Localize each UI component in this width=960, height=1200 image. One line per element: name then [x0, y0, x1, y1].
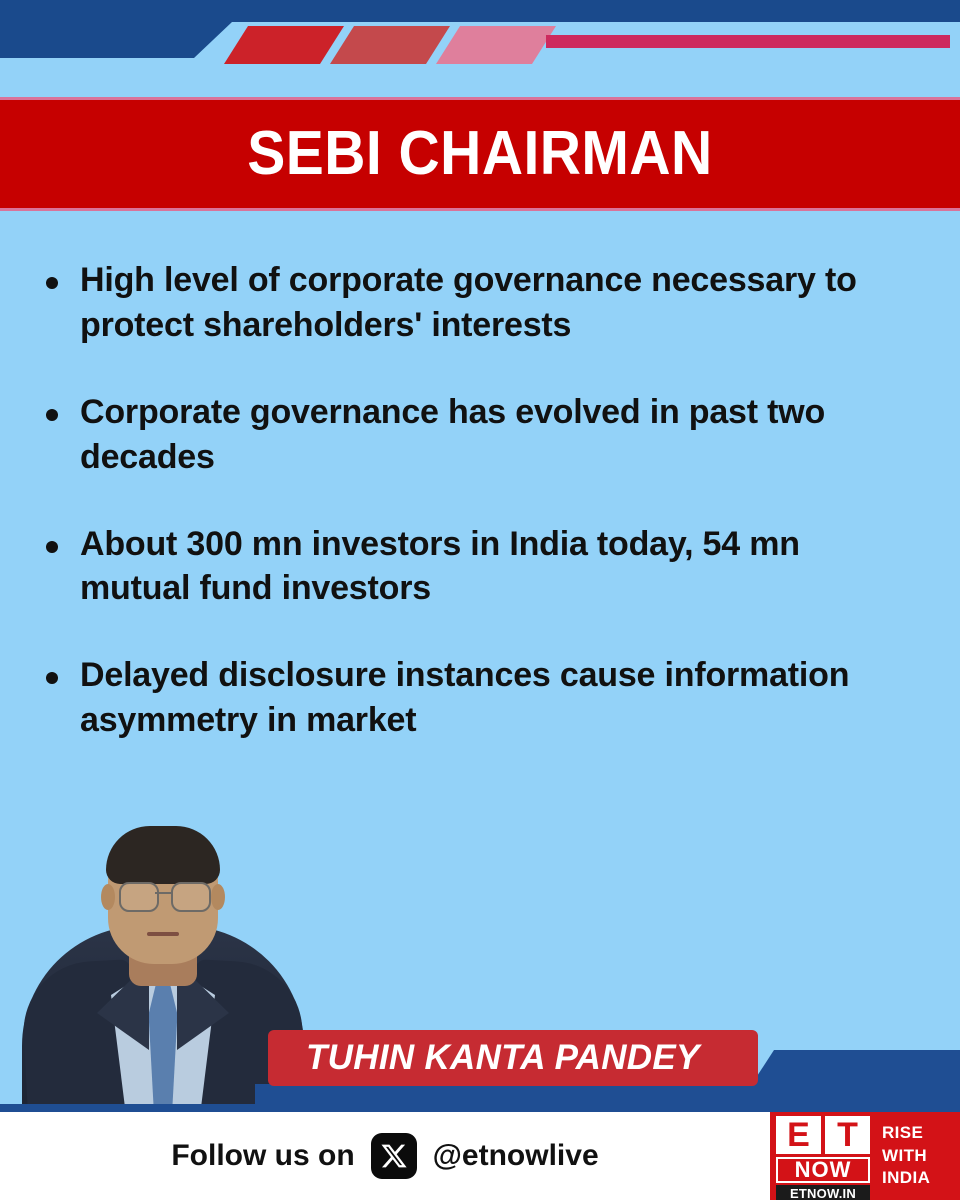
- etnow-letter-e: E: [776, 1116, 821, 1154]
- tagline-line-2: WITH: [882, 1145, 927, 1167]
- footer-bar: Follow us on @etnowlive E T NOW ETNOW.IN: [0, 1112, 960, 1200]
- news-graphic-card: SEBI CHAIRMAN High level of corporate go…: [0, 0, 960, 1200]
- etnow-letter-t: T: [825, 1116, 870, 1154]
- bullet-text: About 300 mn investors in India today, 5…: [80, 522, 914, 612]
- bullet-text: Delayed disclosure instances cause infor…: [80, 653, 914, 743]
- bullet-text: High level of corporate governance neces…: [80, 258, 914, 348]
- eyeglass-bridge: [155, 892, 171, 894]
- list-item: Delayed disclosure instances cause infor…: [46, 653, 914, 743]
- mouth: [147, 932, 179, 936]
- etnow-tagline: RISE WITH INDIA: [874, 1112, 960, 1200]
- bullet-text: Corporate governance has evolved in past…: [80, 390, 914, 480]
- pink-stripe-3: [436, 26, 556, 64]
- ear-right: [211, 884, 225, 910]
- bullet-dot-icon: [46, 672, 58, 684]
- list-item: About 300 mn investors in India today, 5…: [46, 522, 914, 612]
- red-stripe-1: [224, 26, 344, 64]
- follow-label: Follow us on: [171, 1139, 354, 1173]
- list-item: High level of corporate governance neces…: [46, 258, 914, 348]
- ear-left: [101, 884, 115, 910]
- top-decor-banner: [0, 0, 960, 97]
- bullet-dot-icon: [46, 409, 58, 421]
- etnow-now-text: NOW: [795, 1159, 852, 1181]
- etnow-now-box: NOW: [776, 1157, 870, 1183]
- eyeglass-lens-left: [119, 882, 159, 912]
- pink-rule-line: [546, 35, 950, 48]
- eyeglass-lens-right: [171, 882, 211, 912]
- bullet-dot-icon: [46, 277, 58, 289]
- follow-us-group: Follow us on @etnowlive: [0, 1112, 770, 1200]
- x-twitter-icon[interactable]: [371, 1133, 417, 1179]
- tagline-line-1: RISE: [882, 1122, 923, 1144]
- hair: [106, 826, 220, 884]
- social-handle[interactable]: @etnowlive: [433, 1139, 599, 1173]
- header-bar: SEBI CHAIRMAN: [0, 97, 960, 211]
- list-item: Corporate governance has evolved in past…: [46, 390, 914, 480]
- speaker-photo: [18, 806, 308, 1112]
- page-title: SEBI CHAIRMAN: [247, 123, 712, 185]
- bullet-dot-icon: [46, 541, 58, 553]
- speaker-name: TUHIN KANTA PANDEY: [306, 1038, 700, 1078]
- etnow-logo[interactable]: E T NOW ETNOW.IN RISE WITH INDIA: [770, 1112, 960, 1200]
- bullet-list: High level of corporate governance neces…: [46, 258, 914, 785]
- etnow-logo-letters: E T: [776, 1116, 870, 1154]
- etnow-domain-box: ETNOW.IN: [776, 1185, 870, 1200]
- red-stripe-2: [330, 26, 450, 64]
- speaker-name-banner: TUHIN KANTA PANDEY: [268, 1030, 758, 1086]
- tagline-line-3: INDIA: [882, 1167, 930, 1189]
- etnow-domain-text: ETNOW.IN: [790, 1187, 856, 1200]
- etnow-logo-mark: E T NOW ETNOW.IN: [770, 1112, 874, 1200]
